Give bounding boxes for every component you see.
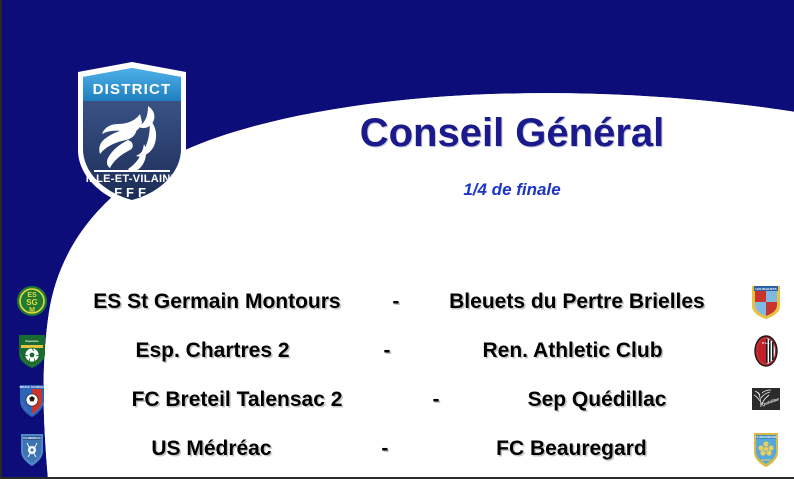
svg-text:Esperance: Esperance [25,339,39,343]
svg-text:BRETEIL TALENSAC: BRETEIL TALENSAC [20,386,45,389]
district-region-text: ILLE-ET-VILAINE [86,173,179,185]
svg-text:R.A.C.: R.A.C. [762,341,770,345]
district-federation-text: FFF [114,185,150,200]
ren-athletic-club-crest: R.A.C. [749,332,783,370]
fc-breteil-talensac-crest: BRETEIL TALENSAC [15,381,49,419]
table-row: ES SG M ES St Germain Montours - Bleuets… [2,277,794,326]
home-crest-cell: US MEDREAC [2,430,62,468]
es-st-germain-montours-crest: ES SG M [15,283,49,321]
svg-text:FC BEAUREGARD: FC BEAUREGARD [756,436,777,439]
page-title: Conseil Général [232,112,792,154]
esp-chartres-crest: Esperance [15,332,49,370]
svg-text:RENNES: RENNES [761,459,771,462]
table-row: Esperance Esp. Chartres 2 - Ren. Athleti… [2,326,794,375]
match-separator: - [418,388,454,412]
away-team-name: Sep Quédillac [454,388,736,412]
svg-text:SG: SG [26,298,38,307]
title-block: Conseil Général 1/4 de finale [232,112,792,200]
sep-quedillac-crest: Quédillac [749,381,783,419]
away-crest-cell: LES BLEUETS [736,283,794,321]
slide-root: DISTRICT ILLE-ET-VILAINE FFF Conseil Gén… [0,0,794,479]
away-crest-cell: R.A.C. [736,332,794,370]
home-team-name: Esp. Chartres 2 [62,339,369,363]
round-subtitle: 1/4 de finale [232,180,792,200]
svg-text:LES BLEUETS: LES BLEUETS [755,287,776,291]
bleuets-du-pertre-brielles-crest: LES BLEUETS [749,283,783,321]
away-crest-cell: Quédillac [736,381,794,419]
home-crest-cell: BRETEIL TALENSAC [2,381,62,419]
table-row: BRETEIL TALENSAC FC Breteil Talensac 2 -… [2,375,794,424]
us-medreac-crest: US MEDREAC [15,430,49,468]
match-separator: - [367,437,403,461]
home-team-name: FC Breteil Talensac 2 [62,388,418,412]
district-ille-et-vilaine-logo: DISTRICT ILLE-ET-VILAINE FFF [70,58,194,210]
away-team-name: FC Beauregard [403,437,736,461]
away-team-name: Ren. Athletic Club [405,339,736,363]
away-team-name: Bleuets du Pertre Brielles [414,290,736,314]
match-separator: - [378,290,414,314]
away-crest-cell: FC BEAUREGARD RENNES [736,430,794,468]
home-crest-cell: Esperance [2,332,62,370]
match-separator: - [369,339,405,363]
table-row: US MEDREAC US Médréac - FC Beauregard FC… [2,424,794,473]
home-team-name: ES St Germain Montours [62,290,378,314]
fc-beauregard-crest: FC BEAUREGARD RENNES [749,430,783,468]
svg-text:M: M [29,307,35,314]
svg-text:US MEDREAC: US MEDREAC [23,436,41,440]
home-crest-cell: ES SG M [2,283,62,321]
district-banner-text: DISTRICT [93,81,172,98]
home-team-name: US Médréac [62,437,367,461]
match-list: ES SG M ES St Germain Montours - Bleuets… [2,277,794,473]
